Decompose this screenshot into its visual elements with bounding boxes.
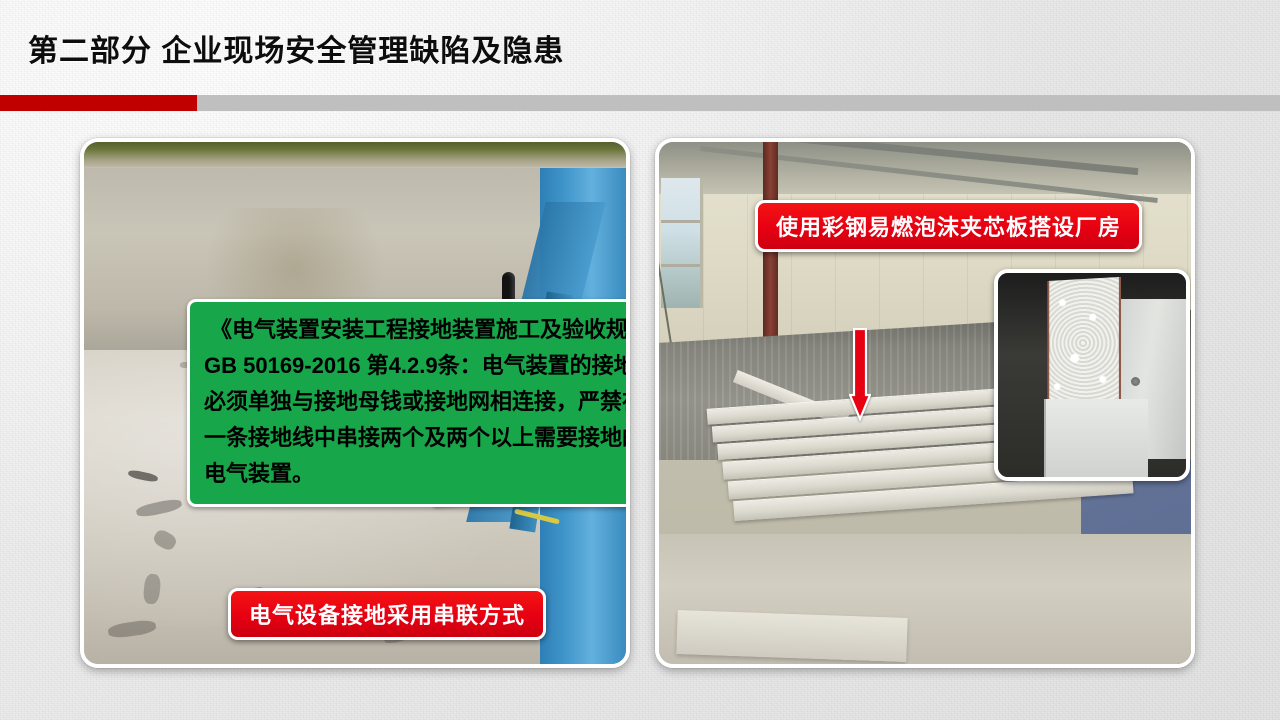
title-divider-bar (0, 95, 1280, 111)
left-regulation-textbox: 《电气装置安装工程接地装置施工及验收规范》 GB 50169-2016 第4.2… (187, 299, 630, 507)
divider-gray-segment (197, 95, 1280, 111)
regulation-line: GB 50169-2016 第4.2.9条：电气装置的接地 (196, 348, 630, 384)
window-mullion (661, 220, 700, 223)
panel-on-floor (676, 610, 907, 662)
regulation-line: 必须单独与接地母钱或接地网相连接，严禁在 (196, 384, 630, 420)
left-photo-caption: 电气设备接地采用串联方式 (228, 588, 546, 640)
inset-metal-sheet (1044, 399, 1148, 477)
regulation-line: 电气装置。 (196, 456, 630, 492)
slide-canvas: 第二部分 企业现场安全管理缺陷及隐患 (0, 0, 1280, 720)
panel-core-closeup-inset[interactable] (994, 269, 1190, 481)
regulation-line: 一条接地线中串接两个及两个以上需要接地的 (196, 420, 630, 456)
divider-red-segment (0, 95, 197, 111)
right-photo-caption: 使用彩钢易燃泡沫夹芯板搭设厂房 (755, 200, 1142, 252)
red-down-arrow-icon (849, 327, 871, 422)
window-mullion (661, 264, 700, 267)
screw-icon (1131, 377, 1140, 386)
page-title: 第二部分 企业现场安全管理缺陷及隐患 (28, 26, 564, 70)
foam-core (1047, 277, 1121, 409)
window (661, 178, 703, 308)
regulation-line: 《电气装置安装工程接地装置施工及验收规范》 (196, 312, 630, 348)
